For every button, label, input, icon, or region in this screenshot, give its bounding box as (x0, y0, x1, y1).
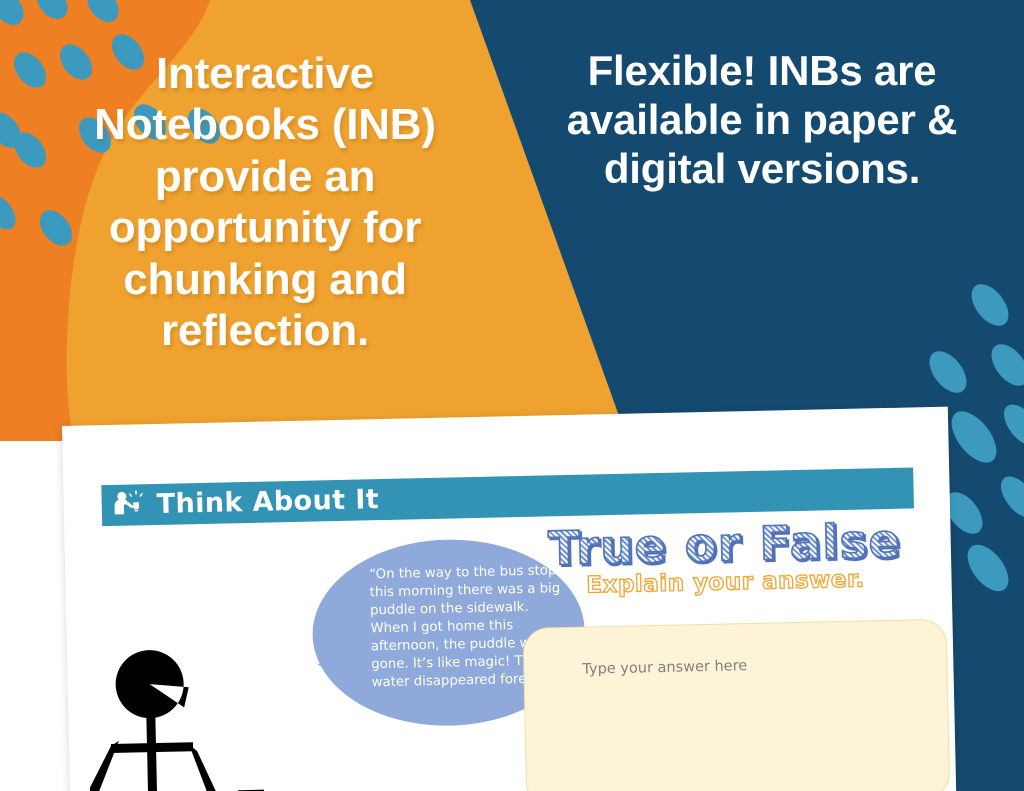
answer-placeholder: Type your answer here (582, 658, 747, 678)
person-idea-icon (111, 489, 146, 522)
true-or-false-block: True or False Explain your answer. (514, 517, 935, 599)
think-about-it-title: Think About It (156, 484, 379, 520)
headline-left: Interactive Notebooks (INB) provide an o… (74, 48, 456, 357)
headline-right: Flexible! INBs are available in paper & … (556, 46, 968, 193)
true-or-false-title: True or False (514, 517, 935, 572)
slide-canvas: Interactive Notebooks (INB) provide an o… (0, 0, 1024, 791)
answer-textbox[interactable]: Type your answer here (523, 619, 951, 791)
worksheet-card: Think About It “On the way to the bus st… (62, 407, 957, 791)
